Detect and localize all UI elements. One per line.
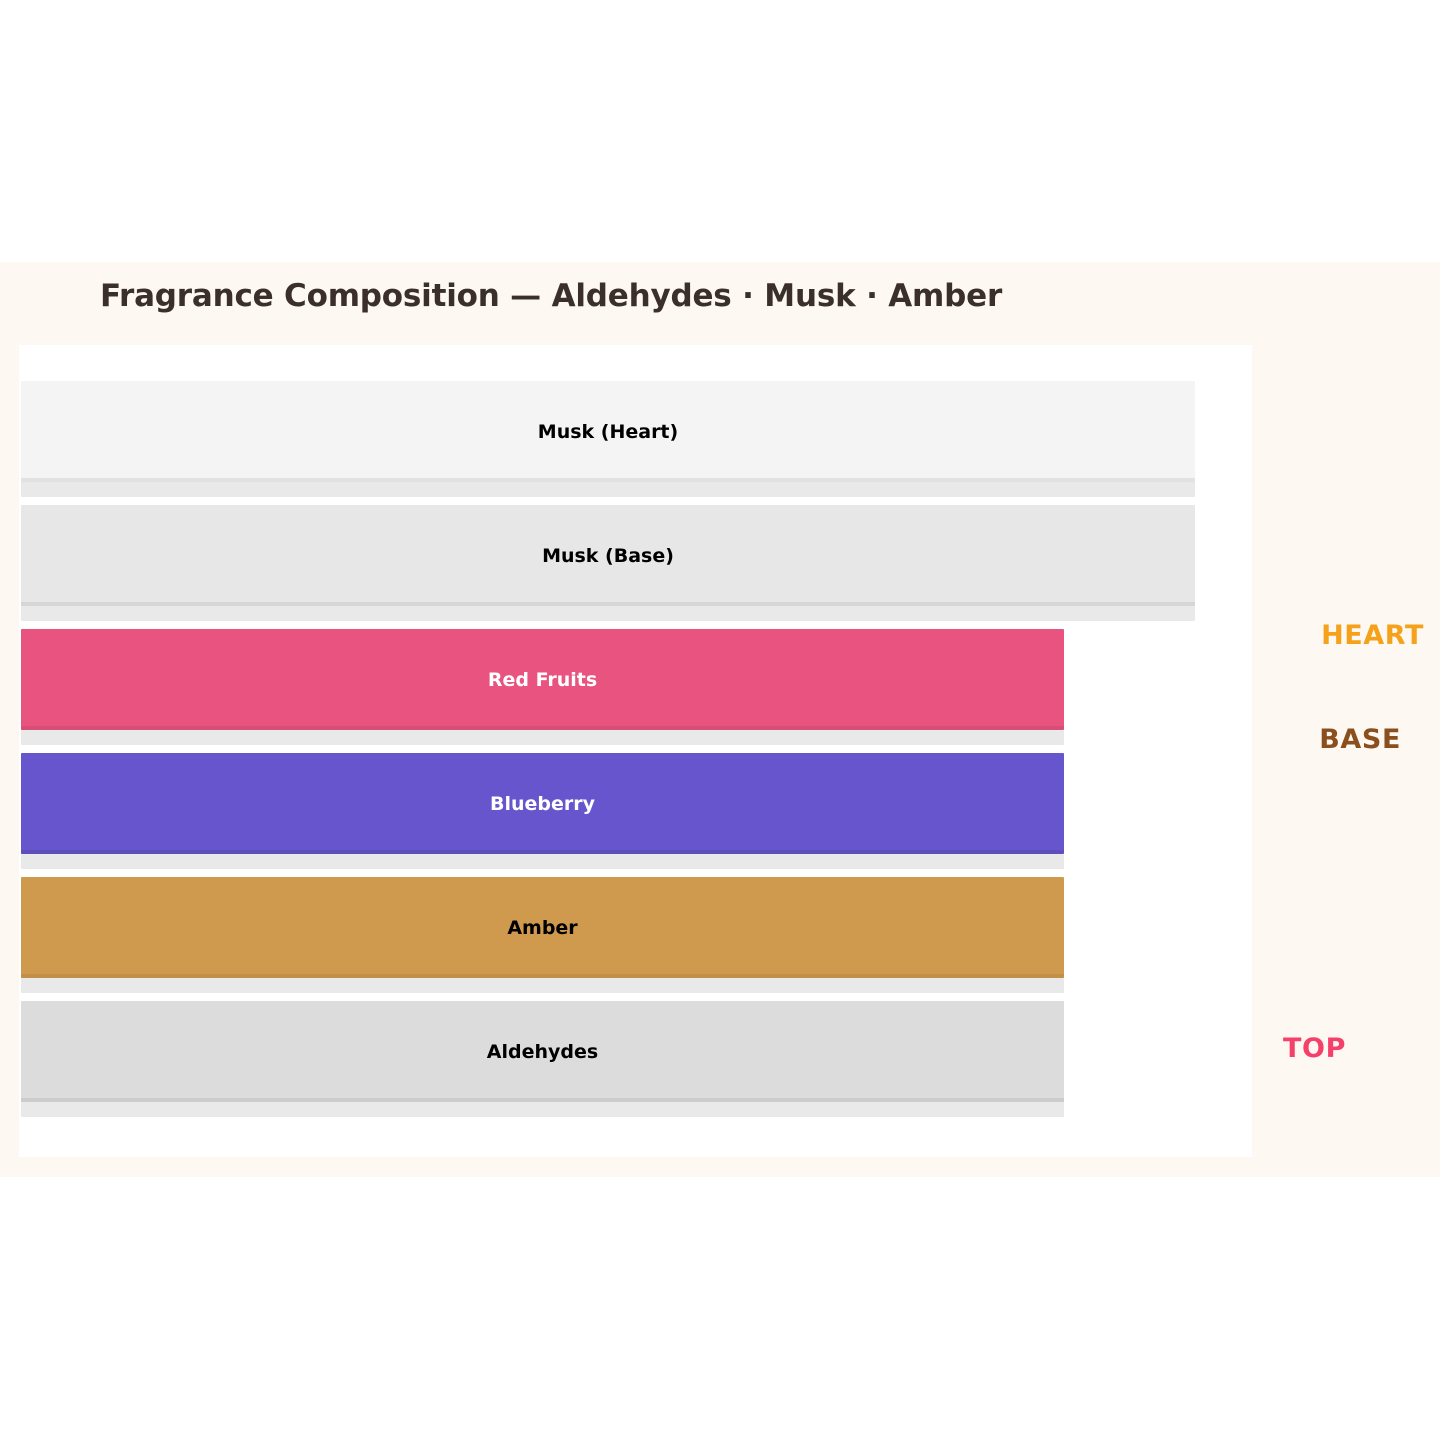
bar-rect[interactable] [21, 877, 1064, 978]
figure-canvas: Fragrance Composition — Aldehydes · Musk… [0, 262, 1440, 1177]
bar-rect[interactable] [21, 505, 1195, 606]
bar-rect[interactable] [21, 1001, 1064, 1102]
bar-group: Musk (Base) [21, 505, 1195, 621]
bar-rect[interactable] [21, 381, 1195, 482]
stage-label-base: BASE [1319, 724, 1401, 755]
bar-group: Aldehydes [21, 1001, 1064, 1117]
plot-panel: Musk (Heart)Musk (Base)Red FruitsBlueber… [19, 345, 1252, 1157]
bars-layer: Musk (Heart)Musk (Base)Red FruitsBlueber… [19, 345, 1252, 1157]
stage-label-heart: HEART [1321, 620, 1424, 651]
bar-rect[interactable] [21, 629, 1064, 730]
page-title: Fragrance Composition — Aldehydes · Musk… [100, 278, 1002, 314]
bar-group: Blueberry [21, 753, 1064, 869]
bar-rect[interactable] [21, 753, 1064, 854]
bar-group: Red Fruits [21, 629, 1064, 745]
bar-group: Musk (Heart) [21, 381, 1195, 497]
bar-group: Amber [21, 877, 1064, 993]
stage-label-top: TOP [1283, 1033, 1346, 1064]
